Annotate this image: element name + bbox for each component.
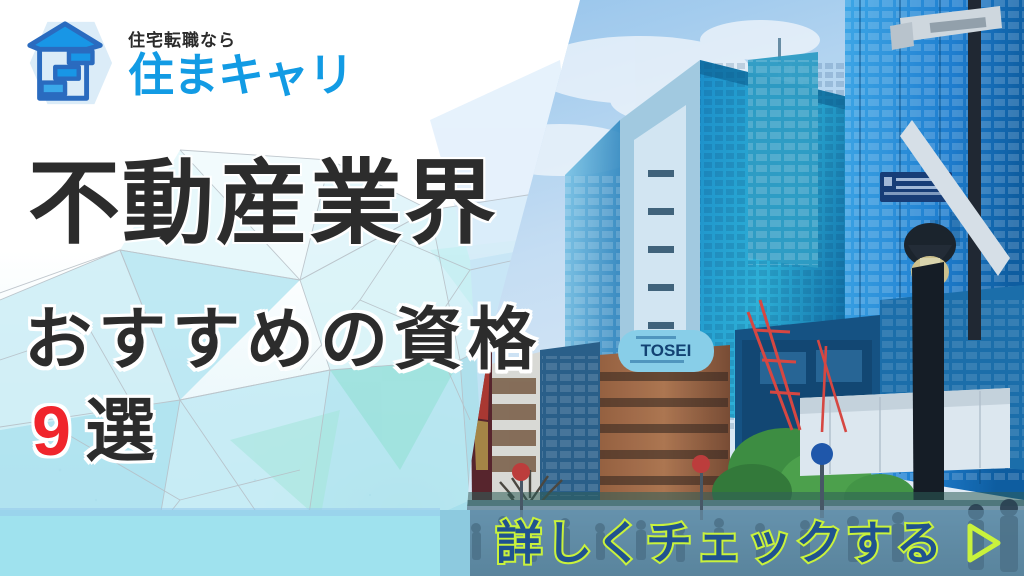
headline-count: 9 xyxy=(32,396,75,466)
house-stairs-icon xyxy=(18,16,116,110)
logo-name: 住まキャリ xyxy=(128,51,353,99)
headline-line-3: 9 選 xyxy=(32,396,159,466)
logo-kicker: 住宅転職なら xyxy=(128,32,353,49)
cta-bar[interactable]: 詳しくチェックする xyxy=(0,510,1024,576)
cta-label[interactable]: 詳しくチェックする xyxy=(496,520,946,566)
banner-root: TOSEI xyxy=(0,0,1024,576)
headline-line-1: 不動産業界 xyxy=(28,158,498,250)
headline-count-suffix: 選 xyxy=(85,396,159,466)
cta-content[interactable]: 詳しくチェックする xyxy=(0,510,1024,576)
house-stairs-icon-svg xyxy=(18,16,116,110)
headline-line-2: おすすめの資格 xyxy=(24,306,542,374)
brand-logo[interactable]: 住宅転職なら 住まキャリ xyxy=(18,16,353,110)
play-triangle-icon-svg xyxy=(962,521,1002,565)
logo-text-block: 住宅転職なら 住まキャリ xyxy=(128,26,353,99)
play-triangle-icon[interactable] xyxy=(962,521,1002,565)
